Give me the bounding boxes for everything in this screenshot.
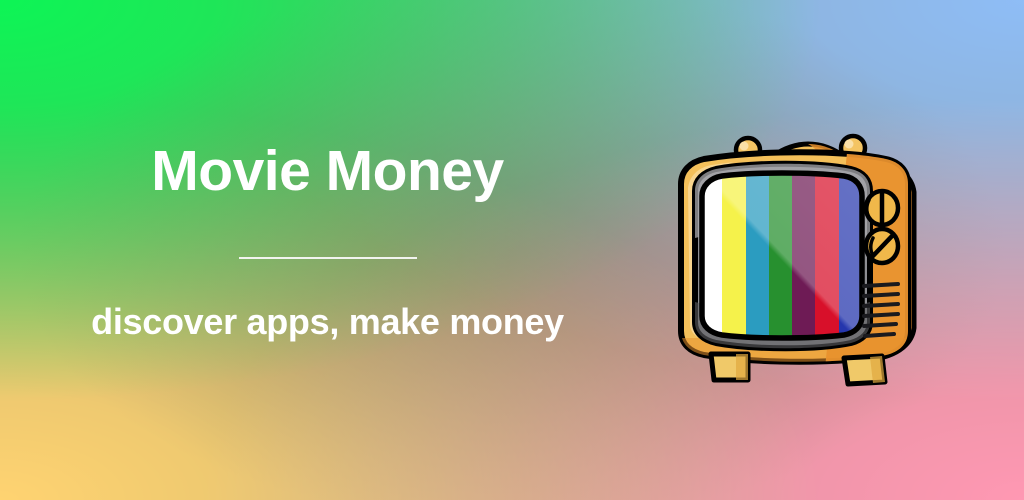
page-tagline: discover apps, make money <box>0 301 655 343</box>
title-divider <box>239 257 417 259</box>
tv-screen <box>688 158 878 358</box>
retro-television-icon <box>648 88 948 388</box>
app-banner: Movie Money discover apps, make money <box>0 0 1024 500</box>
tv-leg-left <box>711 354 748 380</box>
screen-gloss <box>688 158 878 358</box>
tv-knob-upper <box>866 191 898 225</box>
banner-text-block: Movie Money discover apps, make money <box>0 0 655 500</box>
page-title: Movie Money <box>0 142 655 202</box>
tv-knob-lower <box>866 229 898 263</box>
tv-leg-right <box>844 356 885 384</box>
